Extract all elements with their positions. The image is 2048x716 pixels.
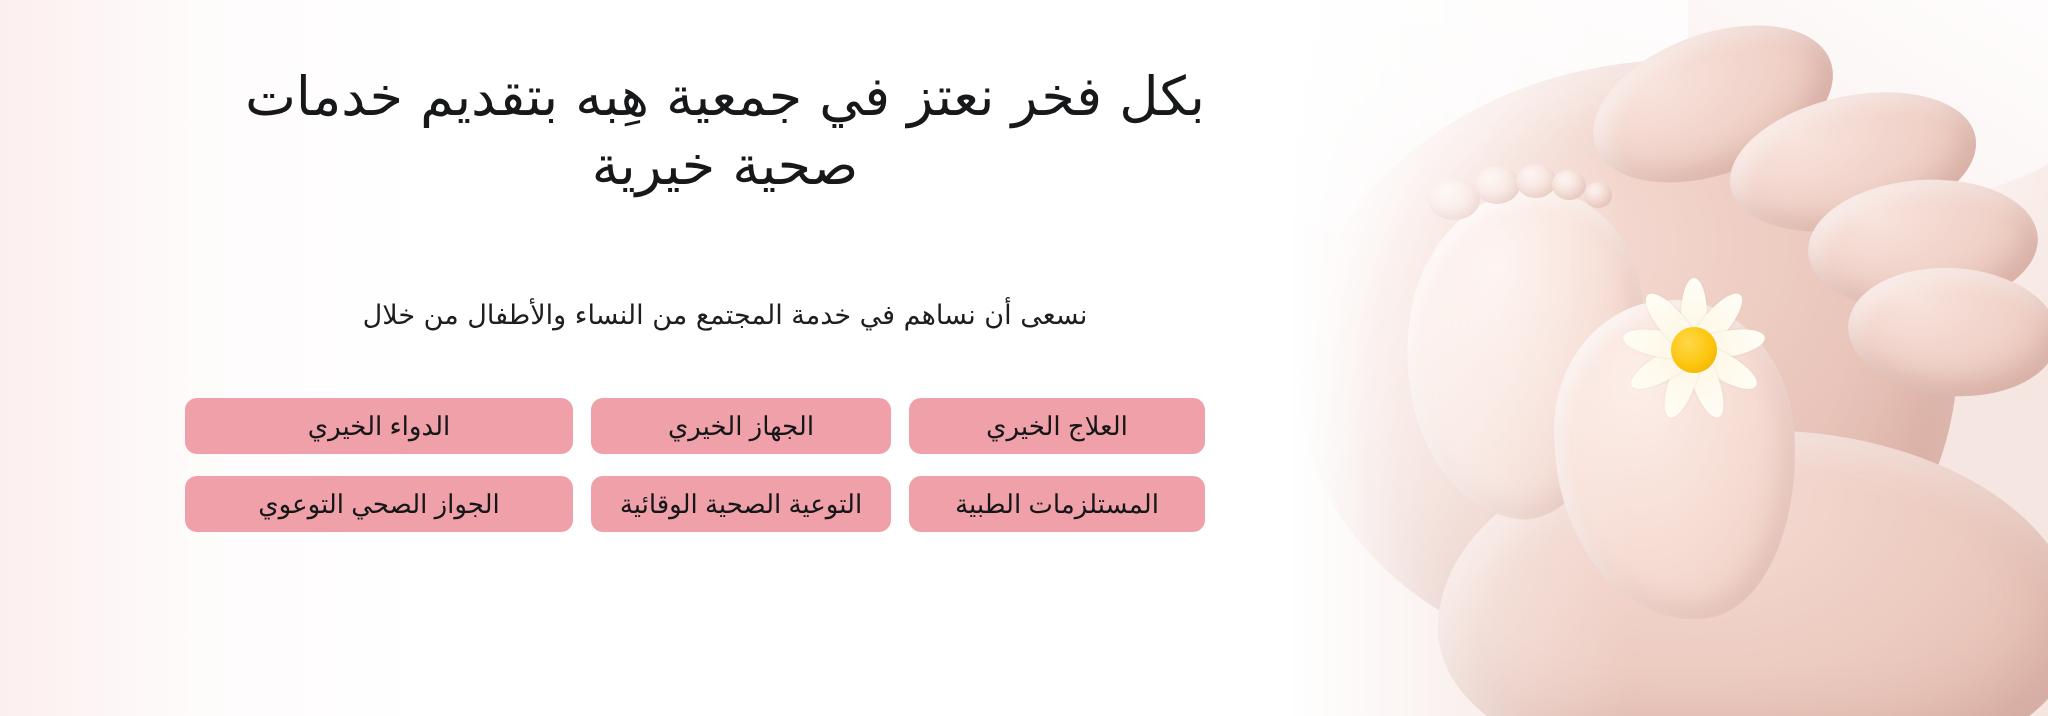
service-pill-button[interactable]: التوعية الصحية الوقائية [591,476,891,532]
service-pill-row-2: المستلزمات الطبيةالتوعية الصحية الوقائية… [80,476,1205,532]
service-pill-button[interactable]: الجهاز الخيري [591,398,891,454]
baby-toe-icon [1552,170,1586,200]
service-pill-button[interactable]: الدواء الخيري [185,398,573,454]
service-pill-row-1: العلاج الخيريالجهاز الخيريالدواء الخيري [80,398,1205,454]
page-title: بكل فخر نعتز في جمعية هِبه بتقديم خدمات … [160,62,1290,200]
baby-toe-icon [1474,166,1520,204]
baby-toe-icon [1516,164,1556,198]
hero-content: بكل فخر نعتز في جمعية هِبه بتقديم خدمات … [0,0,1290,716]
baby-toe-icon [1584,182,1612,208]
hero-photo [1288,0,2048,716]
hero-banner: بكل فخر نعتز في جمعية هِبه بتقديم خدمات … [0,0,2048,716]
daisy-center-icon [1671,327,1717,373]
service-pill-groups: العلاج الخيريالجهاز الخيريالدواء الخيري … [80,398,1290,532]
hero-subtitle: نسعى أن نساهم في خدمة المجتمع من النساء … [160,297,1290,335]
service-pill-button[interactable]: العلاج الخيري [909,398,1205,454]
daisy-flower-icon [1606,262,1782,438]
service-pill-button[interactable]: المستلزمات الطبية [909,476,1205,532]
baby-toe-icon [1428,178,1480,220]
service-pill-button[interactable]: الجواز الصحي التوعوي [185,476,573,532]
